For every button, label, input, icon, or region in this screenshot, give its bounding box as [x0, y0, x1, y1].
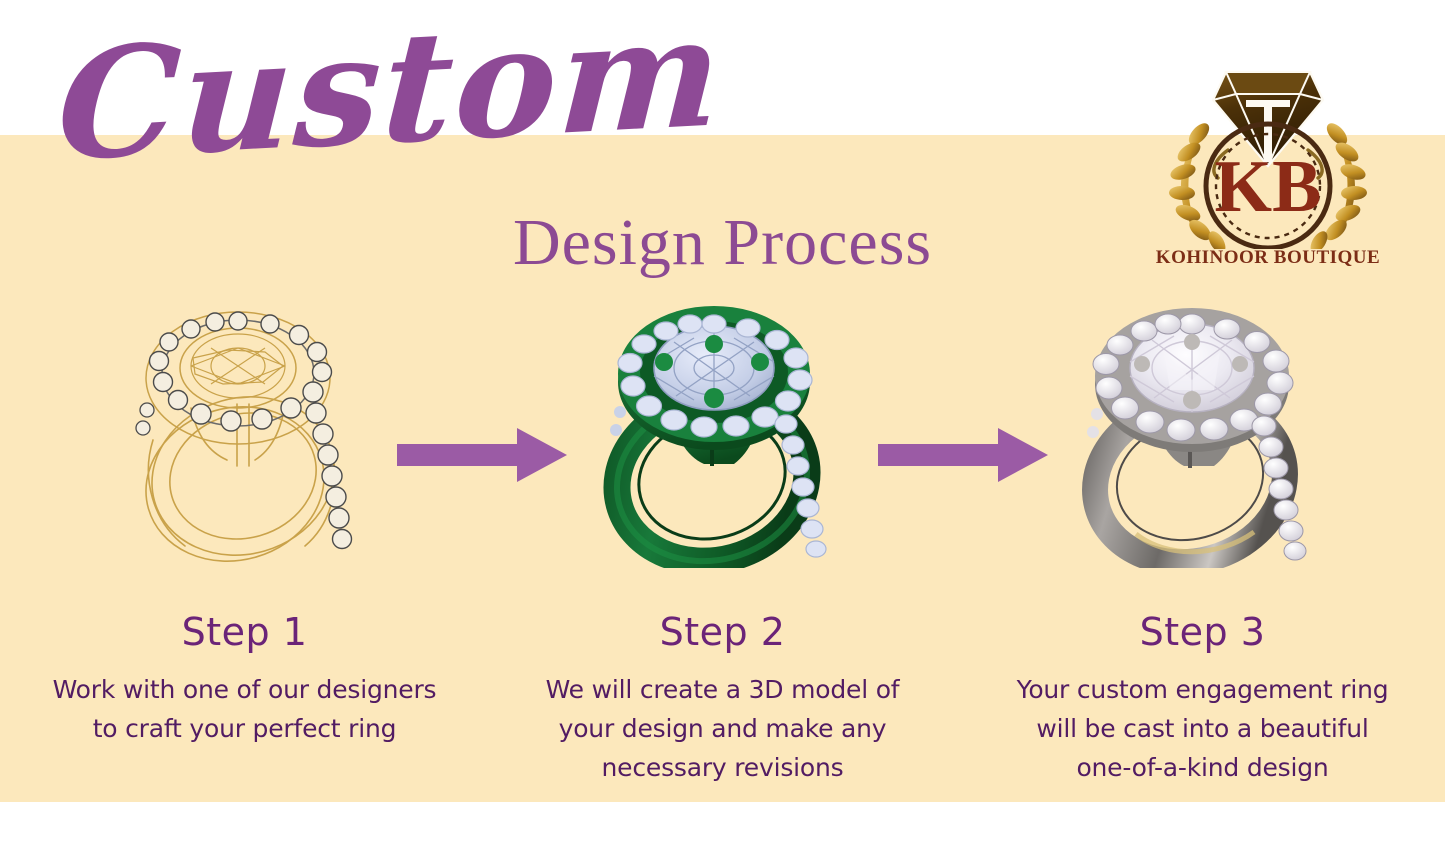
step-3-ring-render-illustration	[1078, 300, 1338, 568]
step-3-description-line-3: one-of-a-kind design	[970, 748, 1435, 787]
custom-design-process-infographic: Custom Design Process	[0, 0, 1445, 849]
step-3-block: Step 3 Your custom engagement ring will …	[970, 608, 1435, 787]
step-2-ring-cad-illustration	[600, 300, 860, 568]
brand-logo: KB KOHINOOR BOUTIQUE	[1148, 54, 1388, 282]
step-3-heading: Step 3	[970, 608, 1435, 656]
step-3-description-line-2: will be cast into a beautiful	[970, 709, 1435, 748]
step-3-description: Your custom engagement ring will be cast…	[970, 670, 1435, 787]
logo-mark-icon: KB	[1148, 54, 1388, 249]
step-2-block: Step 2 We will create a 3D model of your…	[490, 608, 955, 787]
step-2-description-line-1: We will create a 3D model of	[490, 670, 955, 709]
step-1-description: Work with one of our designers to craft …	[12, 670, 477, 748]
logo-monogram-kb: KB	[1215, 146, 1322, 228]
arrow-step2-to-step3	[874, 424, 1052, 486]
step-1-block: Step 1 Work with one of our designers to…	[12, 608, 477, 748]
step-1-ring-sketch-illustration	[125, 300, 385, 568]
step-2-description: We will create a 3D model of your design…	[490, 670, 955, 787]
page-title-script: Custom	[52, 0, 686, 221]
step-1-description-line-2: to craft your perfect ring	[12, 709, 477, 748]
step-1-heading: Step 1	[12, 608, 477, 656]
step-3-description-line-1: Your custom engagement ring	[970, 670, 1435, 709]
arrow-step1-to-step2	[393, 424, 571, 486]
step-2-heading: Step 2	[490, 608, 955, 656]
logo-wordmark: KOHINOOR BOUTIQUE	[1148, 247, 1388, 269]
step-2-description-line-2: your design and make any	[490, 709, 955, 748]
bottom-white-strip	[0, 802, 1445, 849]
step-2-description-line-3: necessary revisions	[490, 748, 955, 787]
step-1-description-line-1: Work with one of our designers	[12, 670, 477, 709]
